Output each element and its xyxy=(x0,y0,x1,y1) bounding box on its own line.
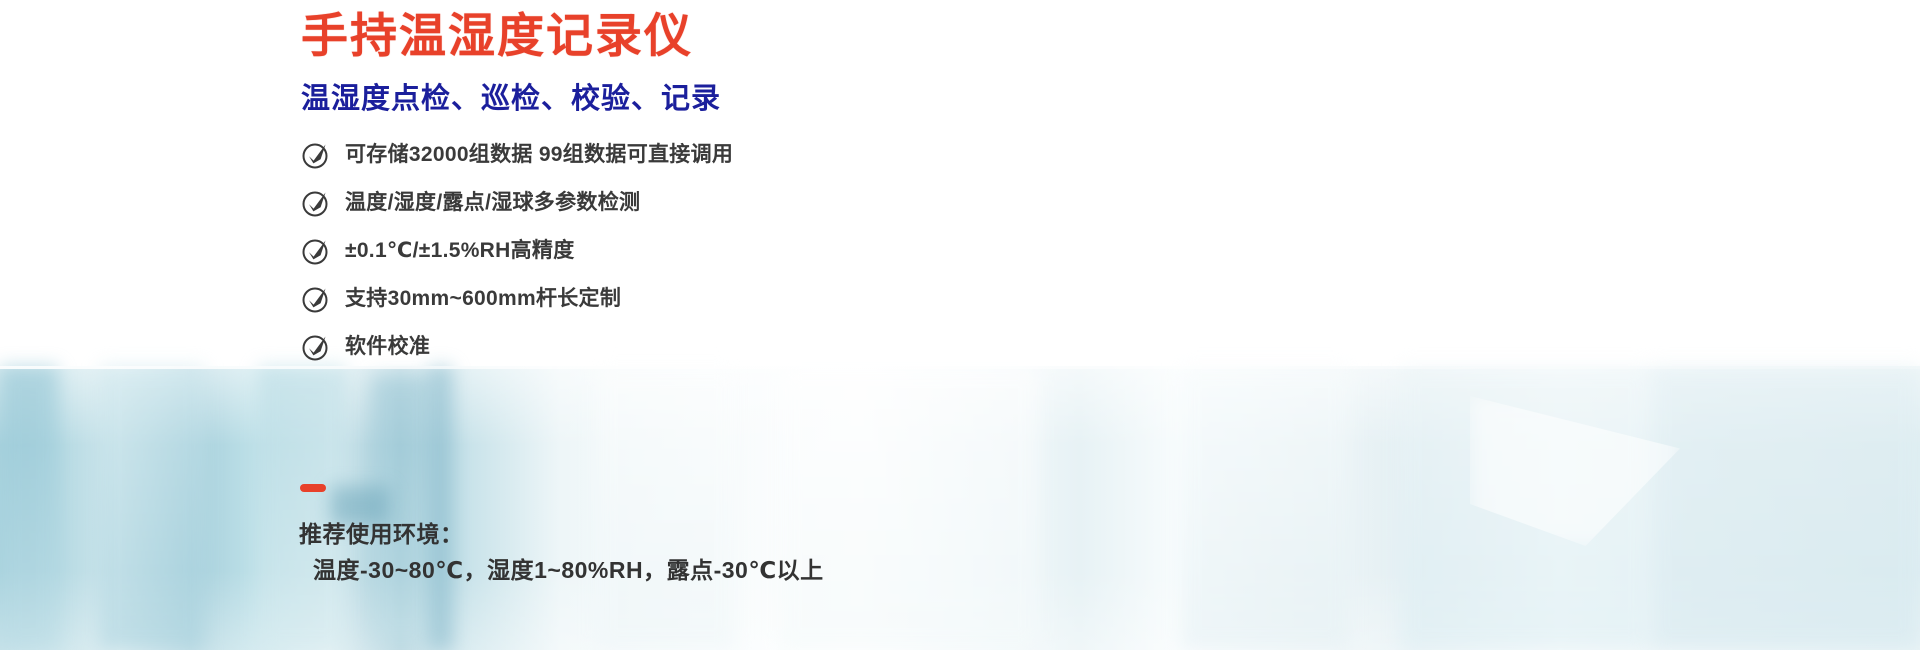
environment-note: 推荐使用环境： 温度-30~80℃，湿度1~80%RH，露点-30℃以上 xyxy=(299,516,824,588)
list-item-label: ±0.1℃/±1.5%RH高精度 xyxy=(345,236,575,266)
page-title: 手持温湿度记录仪 xyxy=(301,7,693,65)
circle-check-icon xyxy=(301,188,331,218)
copy-column: 手持温湿度记录仪 温湿度点检、巡检、校验、记录 可存储32000组数据 99组数… xyxy=(0,0,980,650)
circle-check-icon xyxy=(301,236,331,266)
list-item-label: 软件校准 xyxy=(345,332,430,362)
page-subtitle: 温湿度点检、巡检、校验、记录 xyxy=(301,80,721,118)
product-photo: 可拆换探头 HENGKO 52.0 % RH 28.08 ℃ HG970 xyxy=(930,0,1920,650)
list-item: 软件校准 xyxy=(301,325,941,369)
list-item-label: 支持30mm~600mm杆长定制 xyxy=(345,284,621,314)
circle-check-icon xyxy=(301,332,331,362)
list-item: 温度/湿度/露点/湿球多参数检测 xyxy=(301,181,941,225)
product-banner: 手持温湿度记录仪 温湿度点检、巡检、校验、记录 可存储32000组数据 99组数… xyxy=(0,0,1920,650)
feature-list: 可存储32000组数据 99组数据可直接调用 温度/湿度/露点/湿球多参数检测 xyxy=(301,133,941,373)
list-item-label: 可存储32000组数据 99组数据可直接调用 xyxy=(345,140,733,170)
list-item-label: 温度/湿度/露点/湿球多参数检测 xyxy=(345,188,640,218)
circle-check-icon xyxy=(301,284,331,314)
environment-detail: 温度-30~80℃，湿度1~80%RH，露点-30℃以上 xyxy=(299,552,824,588)
circle-check-icon xyxy=(301,140,331,170)
list-item: 可存储32000组数据 99组数据可直接调用 xyxy=(301,133,941,177)
environment-heading: 推荐使用环境： xyxy=(299,516,824,552)
list-item: ±0.1℃/±1.5%RH高精度 xyxy=(301,229,941,273)
accent-dash xyxy=(300,484,326,492)
list-item: 支持30mm~600mm杆长定制 xyxy=(301,277,941,321)
probe-label: 可拆换探头 xyxy=(1910,130,1920,167)
